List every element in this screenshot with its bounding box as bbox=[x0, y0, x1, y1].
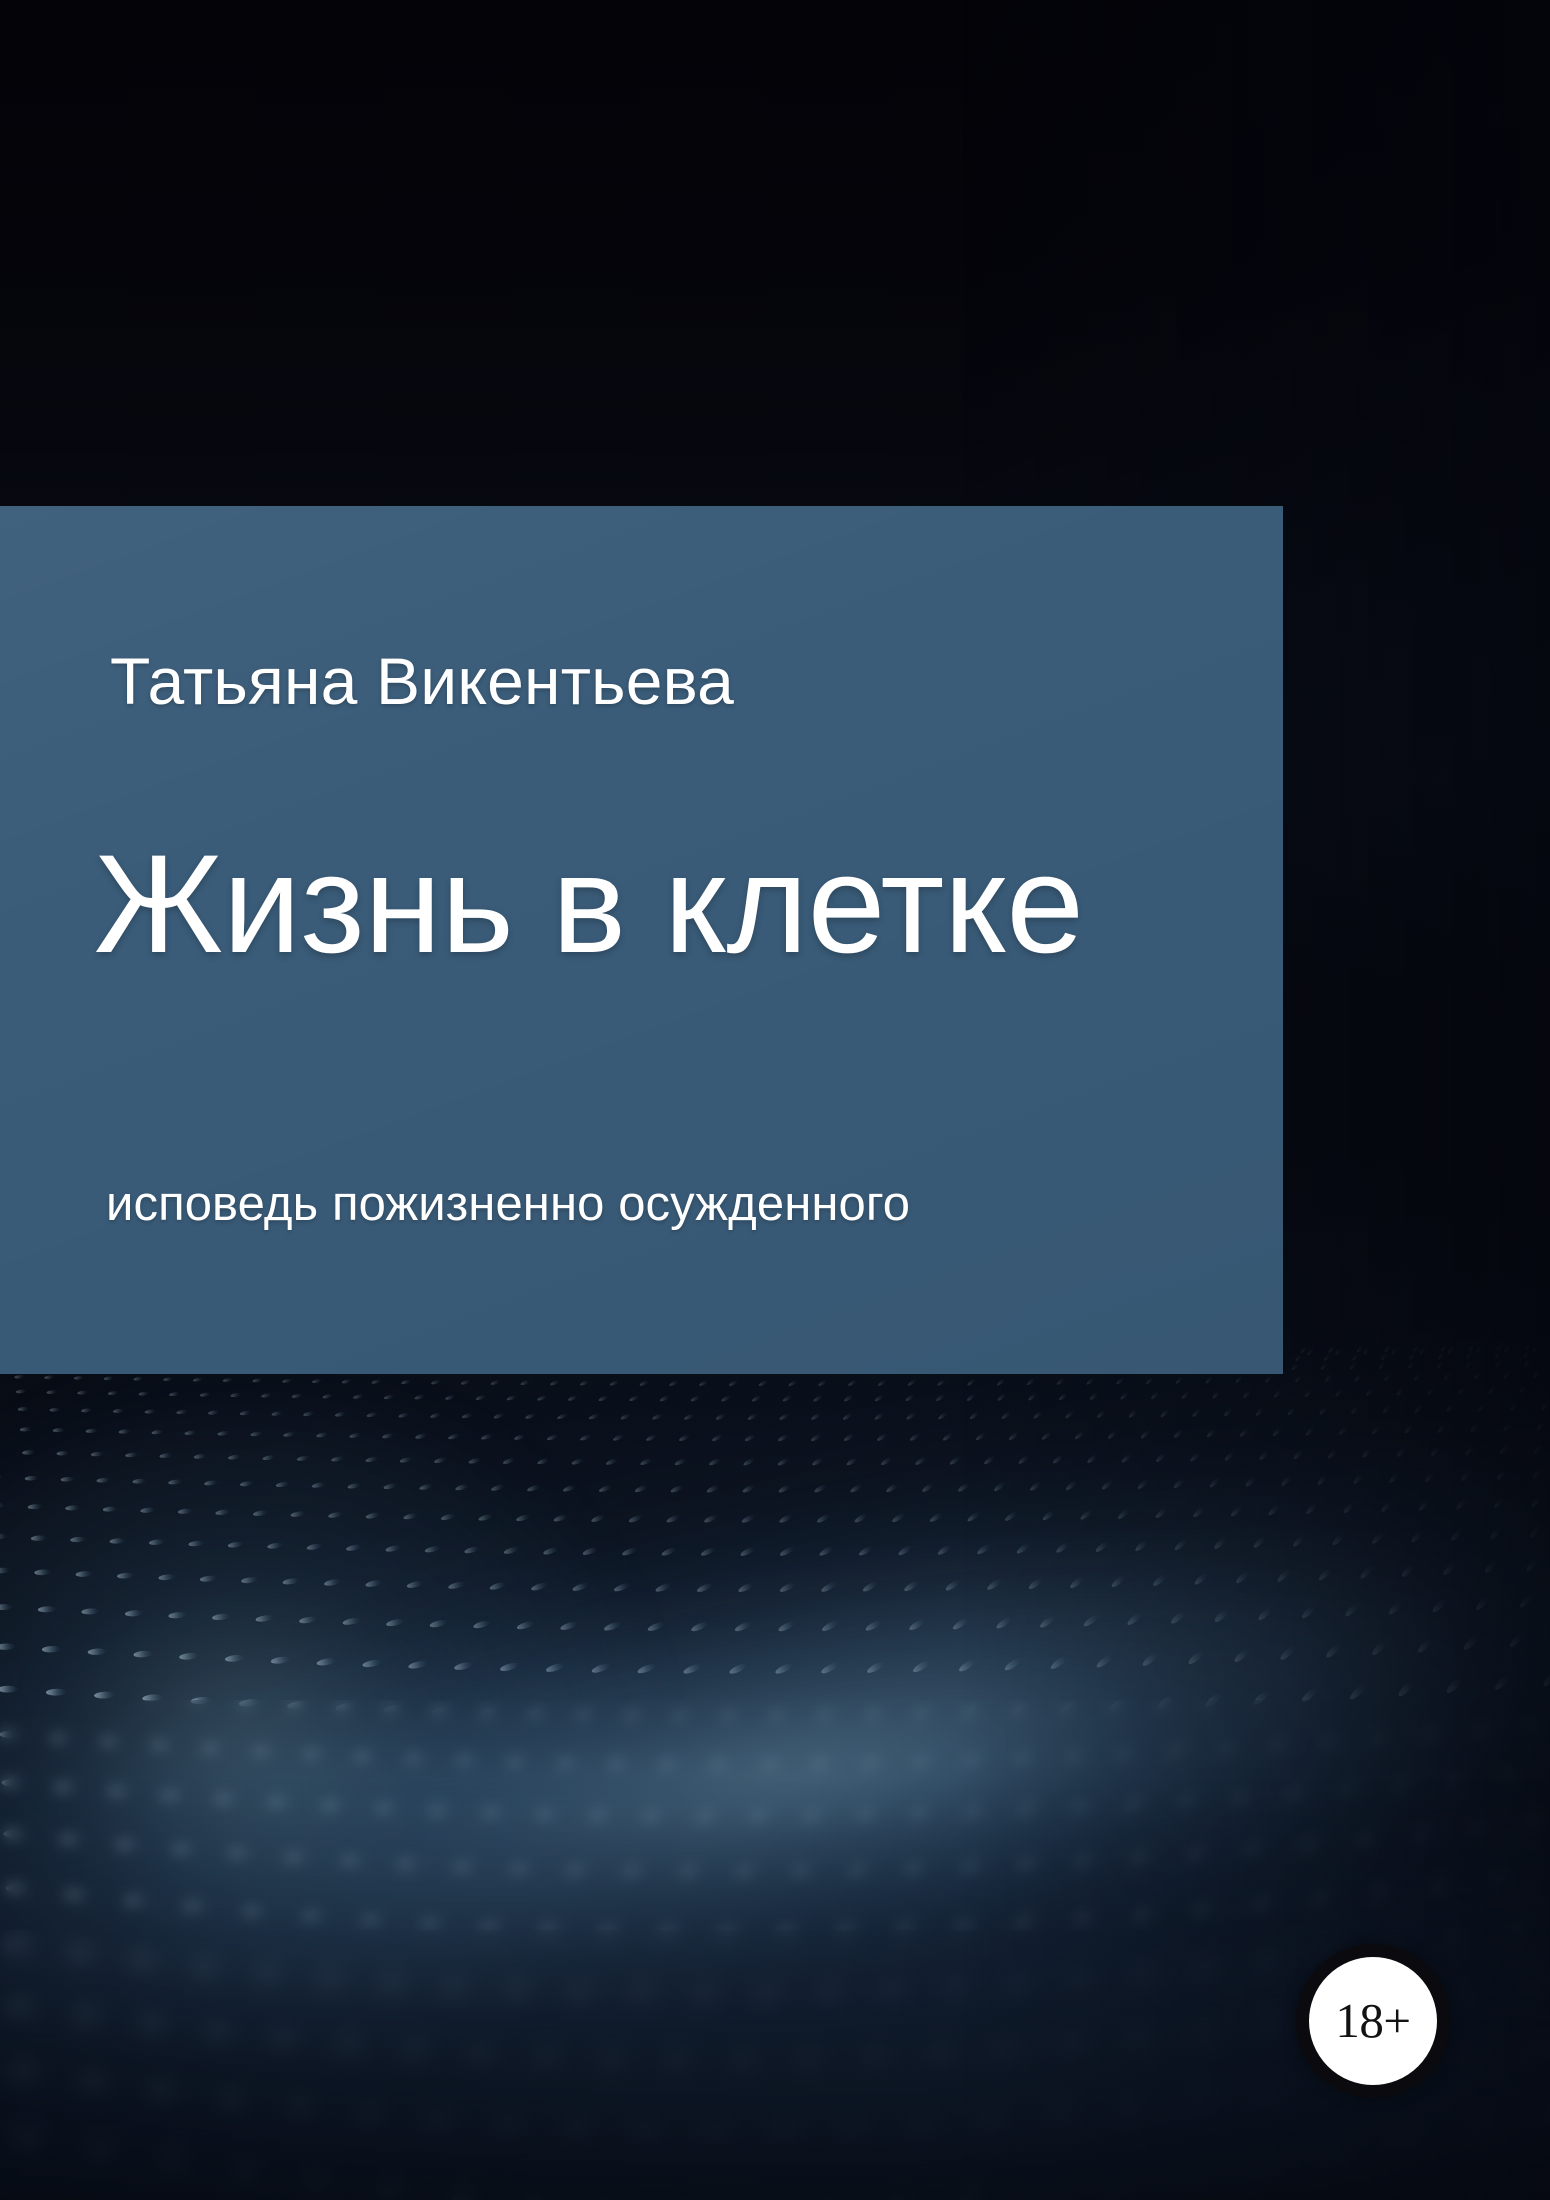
author-name: Татьяна Викентьева bbox=[110, 648, 734, 714]
book-cover: Татьяна Викентьева Жизнь в клетке испове… bbox=[0, 0, 1550, 2200]
book-title: Жизнь в клетке bbox=[94, 834, 1084, 974]
age-rating-label: 18+ bbox=[1335, 1996, 1410, 2045]
book-subtitle: исповедь пожизненно осужденного bbox=[106, 1180, 910, 1229]
age-rating-badge: 18+ bbox=[1296, 1944, 1450, 2098]
